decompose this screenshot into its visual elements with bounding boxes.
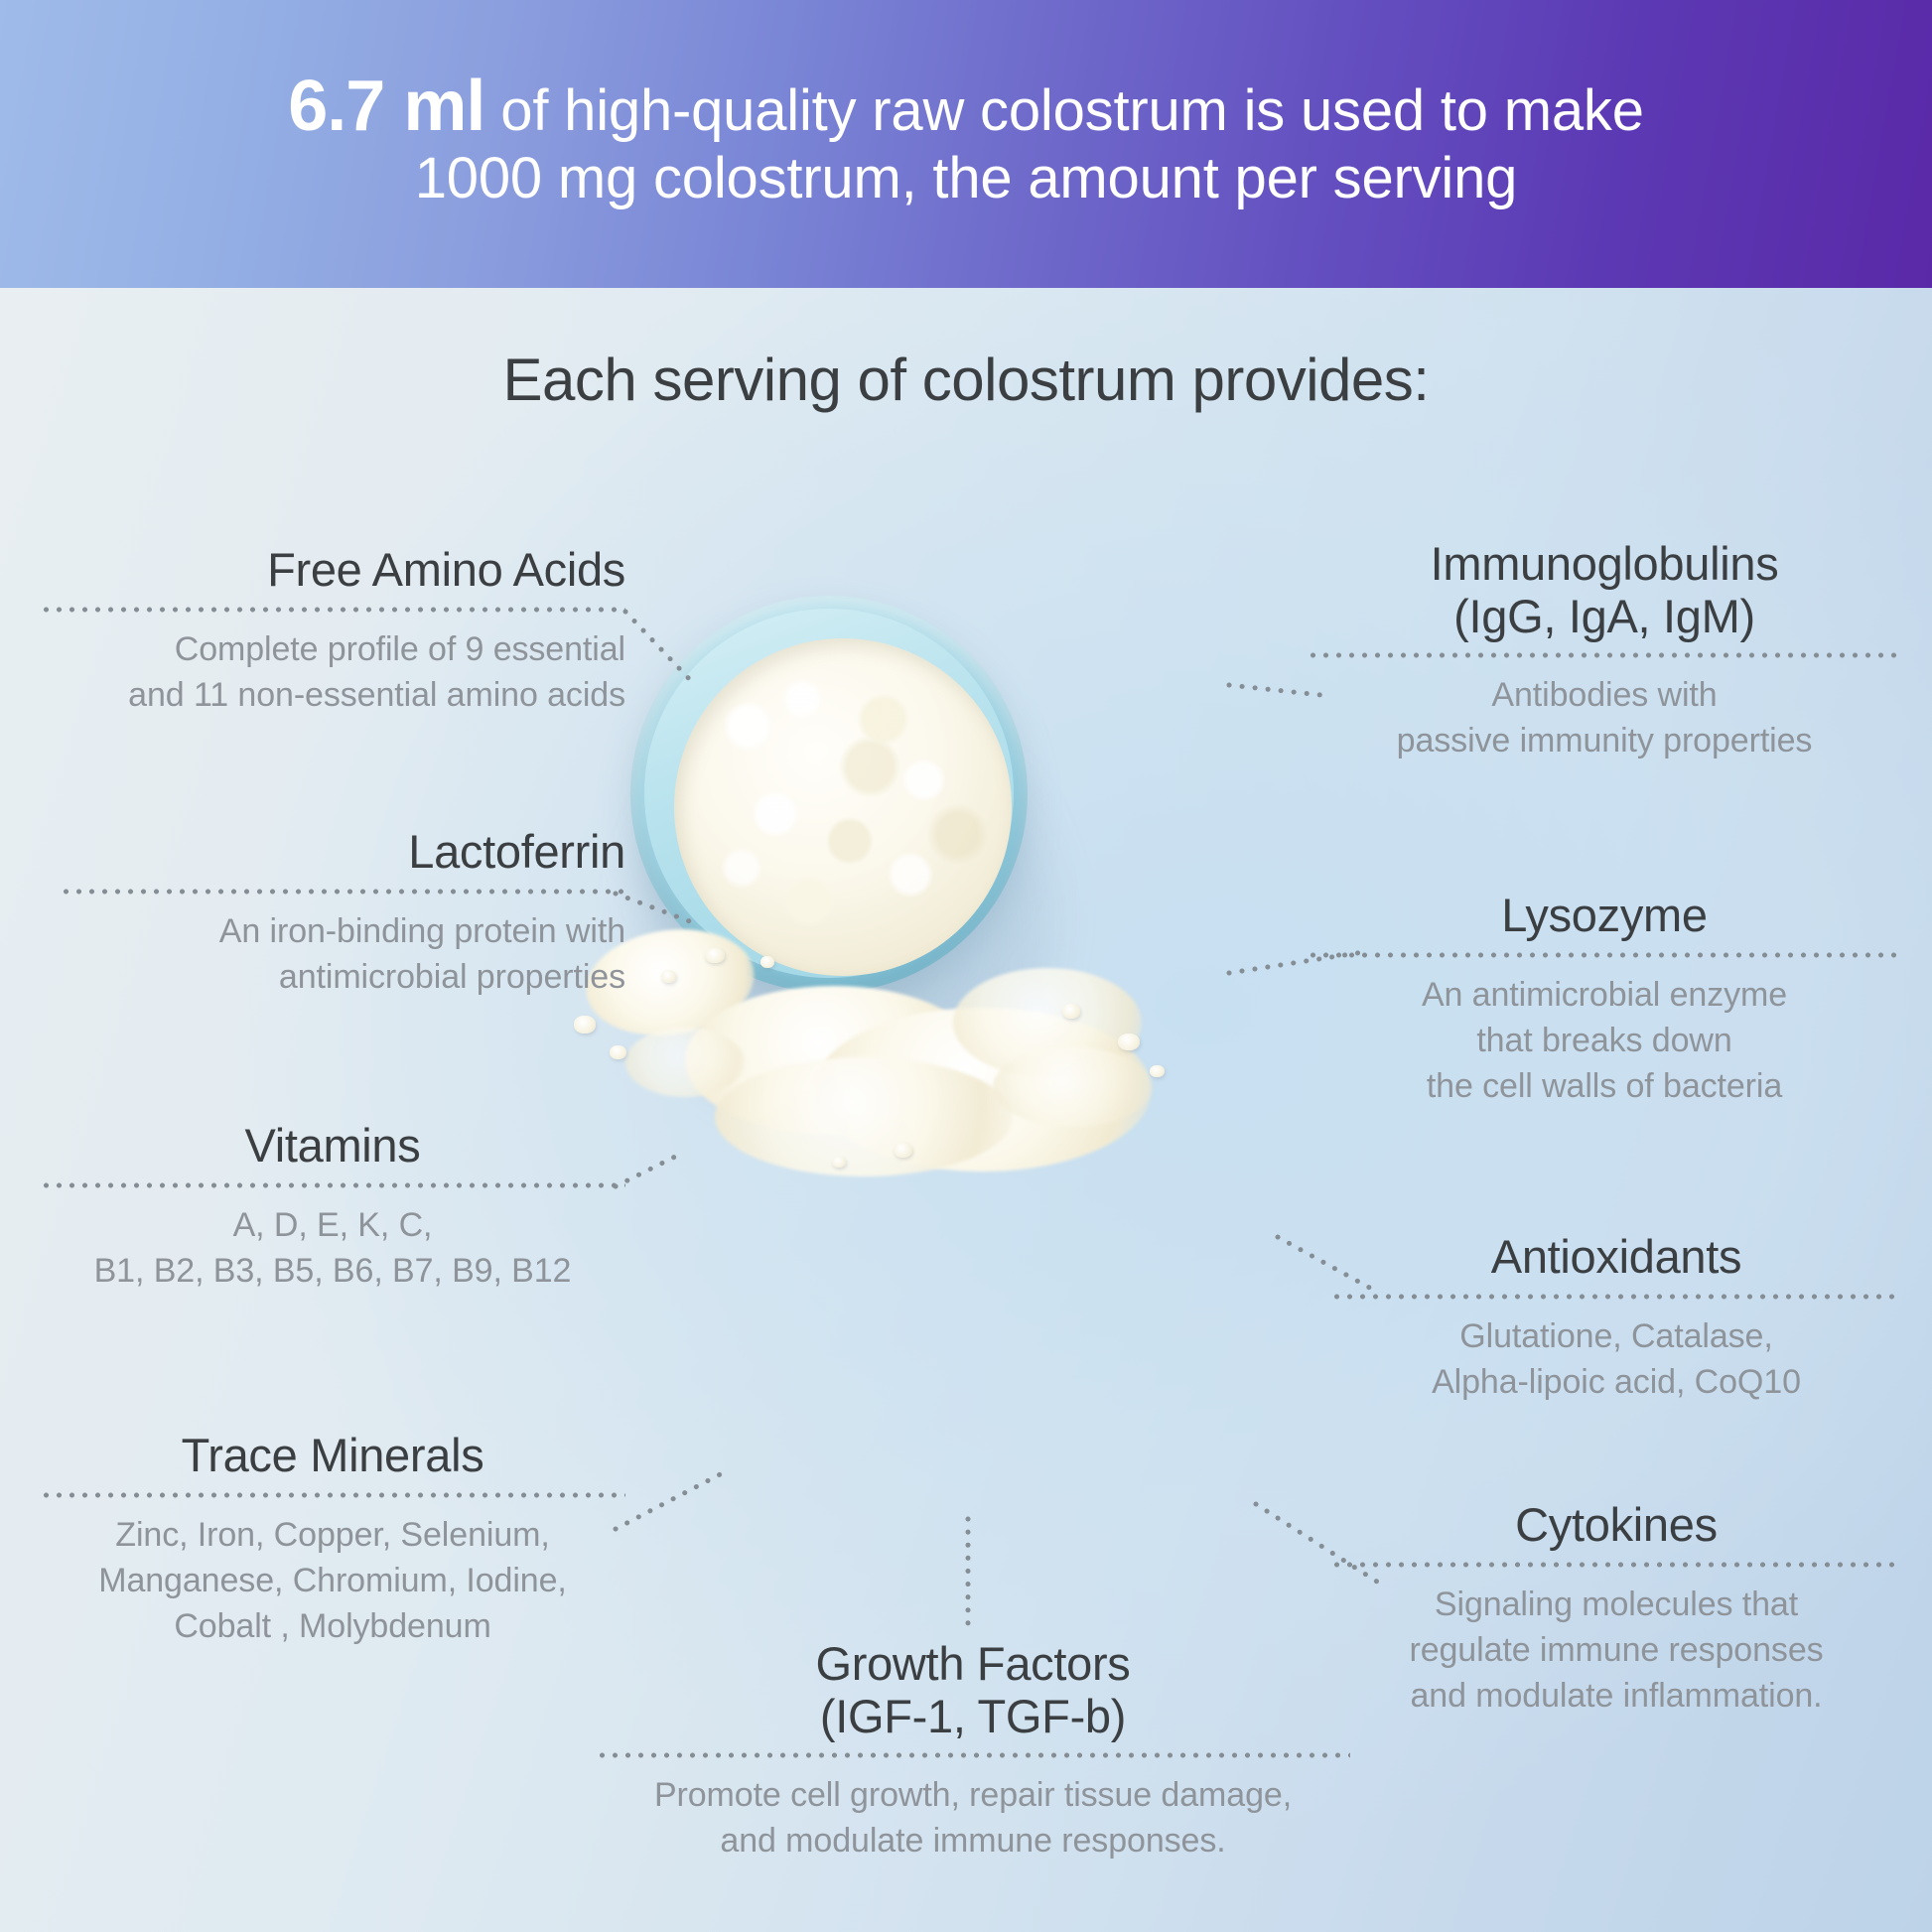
powder-crumb <box>894 1143 912 1158</box>
nutrient-card-free-amino-acids: Free Amino Acids Complete profile of 9 e… <box>40 544 625 718</box>
nutrient-card-trace-minerals: Trace Minerals Zinc, Iron, Copper, Selen… <box>40 1430 625 1649</box>
nutrient-description: Antibodies with passive immunity propert… <box>1307 672 1902 763</box>
nutrient-title: Immunoglobulins (IgG, IgA, IgM) <box>1307 538 1902 642</box>
nutrient-description: Signaling molecules that regulate immune… <box>1330 1582 1902 1720</box>
powder-crumb <box>661 970 676 983</box>
powder-crumb <box>610 1045 626 1059</box>
nutrient-card-cytokines: Cytokines Signaling molecules that regul… <box>1330 1499 1902 1719</box>
header-banner: 6.7 ml of high-quality raw colostrum is … <box>0 0 1932 288</box>
powder-blob <box>814 1008 1152 1172</box>
bowl-shadow <box>631 699 1060 1128</box>
powder-in-bowl <box>674 638 1012 976</box>
header-headline-rest: of high-quality raw colostrum is used to… <box>484 78 1643 143</box>
powder-crumb <box>832 1157 846 1168</box>
colostrum-bowl-photo <box>556 596 1370 1410</box>
leader-line-free-amino-acids <box>625 612 695 685</box>
dotted-divider <box>40 1492 625 1498</box>
powder-crumb <box>1118 1034 1140 1050</box>
bowl-rim <box>644 609 1014 978</box>
dotted-divider <box>1330 1562 1902 1568</box>
nutrient-title: Vitamins <box>40 1120 625 1173</box>
dotted-divider <box>596 1752 1350 1758</box>
nutrient-card-lysozyme: Lysozyme An antimicrobial enzyme that br… <box>1307 890 1902 1109</box>
powder-blob <box>685 986 983 1135</box>
dotted-divider <box>1307 952 1902 958</box>
powder-crumb <box>705 948 725 963</box>
bowl-outer <box>630 596 1028 993</box>
powder-crumb <box>760 956 774 968</box>
nutrient-description: Complete profile of 9 essential and 11 n… <box>40 626 625 718</box>
infographic-poster: 6.7 ml of high-quality raw colostrum is … <box>0 0 1932 1932</box>
leader-line-trace-minerals <box>616 1469 730 1529</box>
dotted-divider <box>40 1182 625 1188</box>
powder-blob <box>715 1057 1013 1176</box>
nutrient-title: Free Amino Acids <box>40 544 625 597</box>
nutrient-card-vitamins: Vitamins A, D, E, K, C, B1, B2, B3, B5, … <box>40 1120 625 1294</box>
page-title: Each serving of colostrum provides: <box>0 345 1932 414</box>
powder-crumb <box>1150 1065 1165 1077</box>
nutrient-description: Promote cell growth, repair tissue damag… <box>596 1772 1350 1863</box>
header-headline-line-1: 6.7 ml of high-quality raw colostrum is … <box>60 67 1872 147</box>
nutrient-description: Glutatione, Catalase, Alpha-lipoic acid,… <box>1330 1313 1902 1405</box>
powder-crumb <box>574 1016 596 1034</box>
nutrient-title: Lysozyme <box>1307 890 1902 942</box>
nutrient-title: Lactoferrin <box>60 826 625 879</box>
powder-crumb <box>1062 1004 1080 1019</box>
nutrient-card-antioxidants: Antioxidants Glutatione, Catalase, Alpha… <box>1330 1231 1902 1405</box>
dotted-divider <box>1307 652 1902 658</box>
nutrient-title: Growth Factors (IGF-1, TGF-b) <box>596 1638 1350 1742</box>
dotted-divider <box>1330 1294 1902 1300</box>
header-amount-value: 6.7 ml <box>288 67 484 146</box>
nutrient-card-growth-factors: Growth Factors (IGF-1, TGF-b) Promote ce… <box>596 1638 1350 1864</box>
nutrient-description: An antimicrobial enzyme that breaks down… <box>1307 972 1902 1110</box>
nutrient-card-immunoglobulins: Immunoglobulins (IgG, IgA, IgM) Antibodi… <box>1307 538 1902 764</box>
nutrient-description: A, D, E, K, C, B1, B2, B3, B5, B6, B7, B… <box>40 1202 625 1294</box>
nutrient-card-lactoferrin: Lactoferrin An iron-binding protein with… <box>60 826 625 1000</box>
nutrient-title: Antioxidants <box>1330 1231 1902 1284</box>
powder-texture <box>674 638 1012 976</box>
dotted-divider <box>60 889 625 895</box>
spilled-powder <box>566 908 1181 1206</box>
nutrient-description: Zinc, Iron, Copper, Selenium, Manganese,… <box>40 1512 625 1650</box>
nutrient-description: An iron-binding protein with antimicrobi… <box>60 908 625 1000</box>
powder-blob <box>953 968 1142 1077</box>
header-headline-line-2: 1000 mg colostrum, the amount per servin… <box>415 147 1517 211</box>
powder-blob <box>625 1028 745 1097</box>
powder-blob <box>993 1047 1152 1127</box>
nutrient-title: Trace Minerals <box>40 1430 625 1482</box>
dotted-divider <box>40 607 625 613</box>
leader-line-lactoferrin <box>616 894 695 923</box>
nutrient-title: Cytokines <box>1330 1499 1902 1552</box>
